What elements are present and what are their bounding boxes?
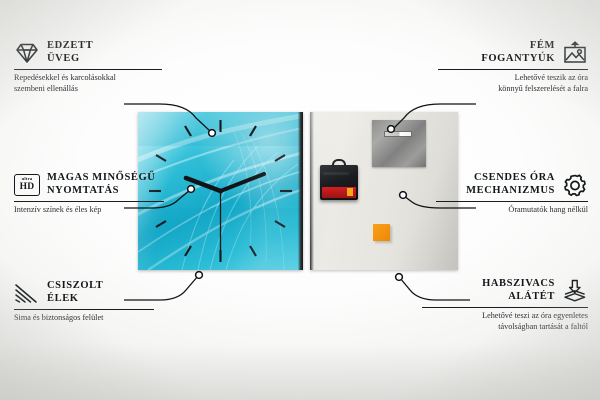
feature-tempered-glass: EDZETT ÜVEG Repedésekkel és karcolásokka… — [14, 40, 162, 94]
feature-description: Repedésekkel és karcolásokkal szembeni e… — [14, 73, 162, 94]
polished-edge-icon — [14, 281, 40, 305]
feature-hd-print: ultra HD MAGAS MINŐSÉGŰ NYOMTATÁS Intenz… — [14, 172, 164, 216]
feature-description: Óramutatók hang nélkül — [436, 205, 588, 216]
feature-title: CSISZOLT ÉLEK — [47, 280, 103, 305]
feature-title: CSENDES ÓRA MECHANIZMUS — [466, 172, 555, 197]
feature-header: EDZETT ÜVEG — [14, 40, 162, 65]
feature-polished-edges: CSISZOLT ÉLEK Sima és biztonságos felüle… — [14, 280, 154, 324]
wire-dot-edge — [196, 272, 203, 279]
feature-header: HABSZIVACS ALÁTÉT — [422, 278, 588, 303]
feature-divider — [14, 201, 164, 202]
feature-silent-mechanism: CSENDES ÓRA MECHANIZMUS Óramutatók hang … — [436, 172, 588, 216]
diamond-icon — [14, 41, 40, 65]
feature-header: FÉM FOGANTYÚK — [438, 40, 588, 65]
feature-title: FÉM FOGANTYÚK — [481, 40, 555, 65]
wall-hanging-icon — [562, 41, 588, 65]
feature-description: Lehetővé teszi az óra egyenletes távolsá… — [422, 311, 588, 332]
feature-description: Intenzív színek és éles kép — [14, 205, 164, 216]
ultra-hd-icon: ultra HD — [14, 174, 40, 196]
wire-dot-mech — [400, 192, 407, 199]
feature-title: HABSZIVACS ALÁTÉT — [482, 278, 555, 303]
feature-divider — [14, 309, 154, 310]
feature-metal-hooks: FÉM FOGANTYÚK Lehetővé teszik az óra kön… — [438, 40, 588, 94]
wire-dot-foam — [396, 274, 403, 281]
feature-divider — [436, 201, 588, 202]
feature-header: ultra HD MAGAS MINŐSÉGŰ NYOMTATÁS — [14, 172, 164, 197]
ultra-hd-icon-main: HD — [20, 183, 35, 193]
feature-description: Lehetővé teszik az óra könnyű felszerelé… — [438, 73, 588, 94]
feature-divider — [14, 69, 162, 70]
wire-dot-print — [188, 186, 195, 193]
feature-header: CSENDES ÓRA MECHANIZMUS — [436, 172, 588, 197]
wire-dot-glass — [209, 130, 216, 137]
feature-title: MAGAS MINŐSÉGŰ NYOMTATÁS — [47, 172, 155, 197]
feature-divider — [422, 307, 588, 308]
feature-description: Sima és biztonságos felület — [14, 313, 154, 324]
feature-divider — [438, 69, 588, 70]
feature-title: EDZETT ÜVEG — [47, 40, 93, 65]
ultra-hd-icon-top: ultra — [22, 177, 33, 182]
foam-pad-icon — [562, 279, 588, 303]
gear-icon — [562, 173, 588, 197]
feature-foam-pad: HABSZIVACS ALÁTÉT Lehetővé teszi az óra … — [422, 278, 588, 332]
feature-header: CSISZOLT ÉLEK — [14, 280, 154, 305]
wire-dot-hook — [388, 126, 395, 133]
